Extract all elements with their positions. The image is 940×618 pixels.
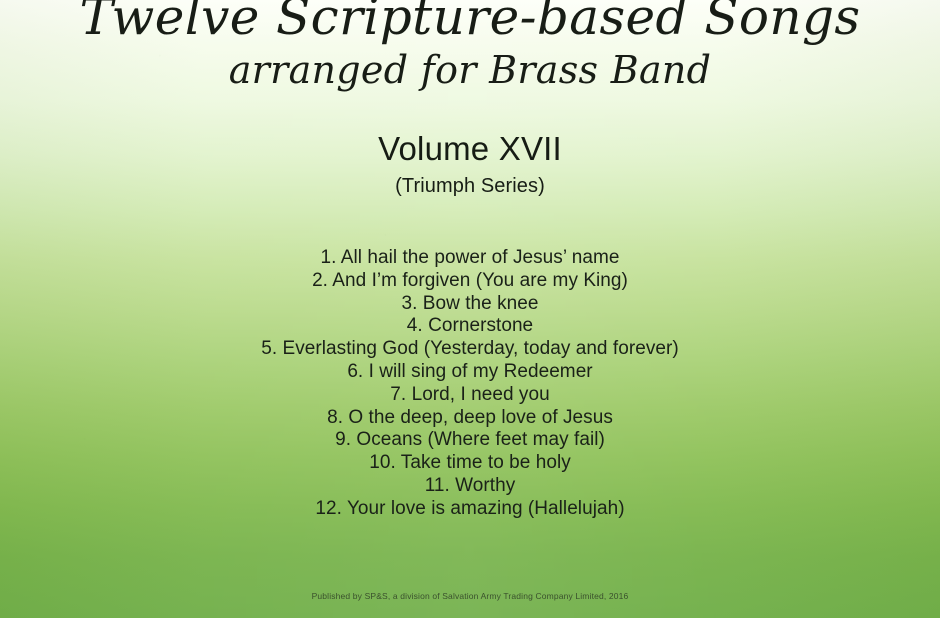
list-item: 8. O the deep, deep love of Jesus: [0, 407, 940, 430]
song-list: 1. All hail the power of Jesus’ name2. A…: [0, 247, 940, 521]
list-item: 2. And I’m forgiven (You are my King): [0, 270, 940, 293]
page-title: Twelve Scripture-based Songs: [0, 0, 940, 47]
list-item: 9. Oceans (Where feet may fail): [0, 429, 940, 452]
list-item: 5. Everlasting God (Yesterday, today and…: [0, 338, 940, 361]
list-item: 4. Cornerstone: [0, 315, 940, 338]
list-item: 10. Take time to be holy: [0, 452, 940, 475]
list-item: 11. Worthy: [0, 475, 940, 498]
list-item: 3. Bow the knee: [0, 293, 940, 316]
title-block: Twelve Scripture-based Songs arranged fo…: [0, 0, 940, 93]
volume-block: Volume XVII (Triumph Series): [0, 131, 940, 198]
volume-label: Volume XVII: [0, 131, 940, 168]
imprint-text: Published by SP&S, a division of Salvati…: [0, 591, 940, 601]
list-item: 6. I will sing of my Redeemer: [0, 361, 940, 384]
book-cover: Twelve Scripture-based Songs arranged fo…: [0, 0, 940, 618]
list-item: 12. Your love is amazing (Hallelujah): [0, 498, 940, 521]
series-label: (Triumph Series): [0, 175, 940, 198]
page-subtitle: arranged for Brass Band: [0, 49, 940, 93]
list-item: 7. Lord, I need you: [0, 384, 940, 407]
list-item: 1. All hail the power of Jesus’ name: [0, 247, 940, 270]
